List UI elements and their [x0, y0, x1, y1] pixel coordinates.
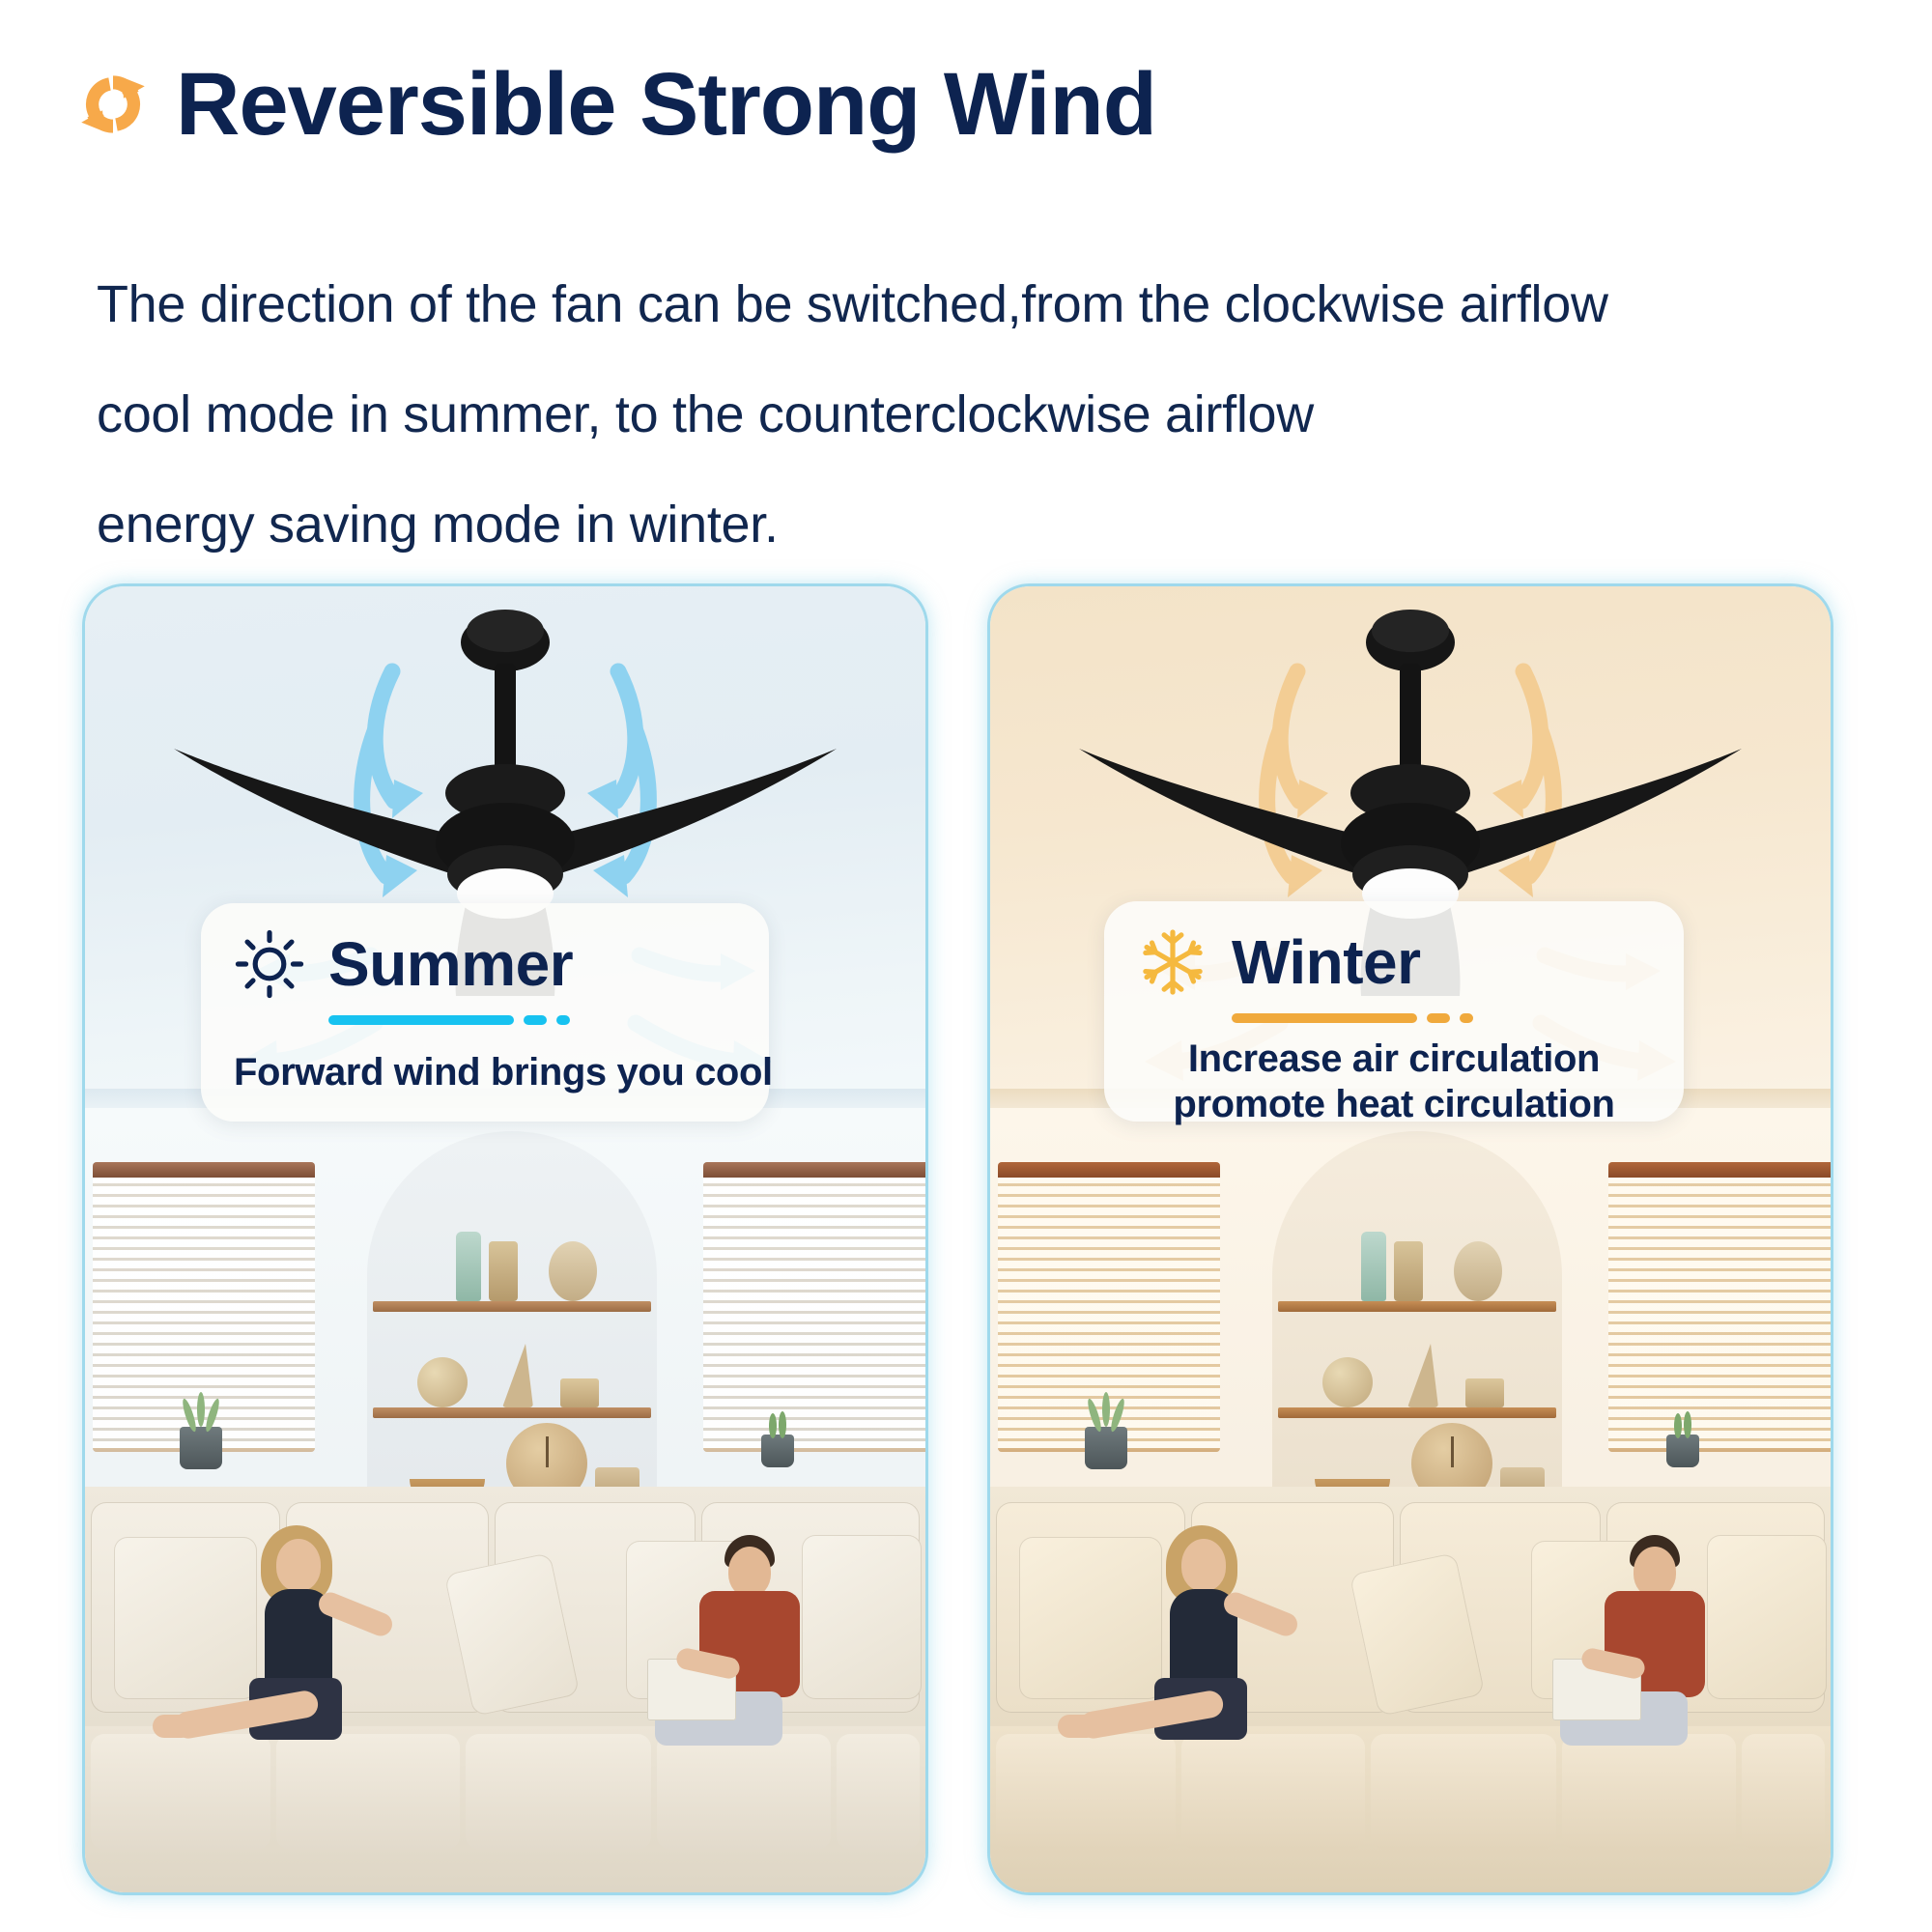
seat-cushion [1562, 1734, 1736, 1850]
seat-cushion [1371, 1734, 1556, 1850]
decor-sailboat [1407, 1344, 1438, 1407]
snowflake-icon [1137, 926, 1208, 998]
decor-bottle [456, 1232, 481, 1301]
winter-label-card: Winter Increase air circulation promote … [1104, 901, 1684, 1122]
season-title: Winter [1232, 931, 1421, 993]
rule-segment [556, 1015, 570, 1025]
season-title: Summer [328, 933, 573, 995]
summer-label-head: Summer [234, 928, 736, 1000]
rule-segment [328, 1015, 514, 1025]
description-line-1: The direction of the fan can be switched… [97, 249, 1884, 359]
decor-bottle [1361, 1232, 1386, 1301]
sofa-seat [85, 1726, 925, 1892]
blind-valance [1608, 1162, 1831, 1178]
ottoman [837, 1734, 920, 1850]
accent-rule [328, 1015, 736, 1025]
potted-plant [1085, 1427, 1127, 1469]
winter-panel[interactable]: Winter Increase air circulation promote … [987, 583, 1833, 1895]
window-sill [703, 1448, 925, 1452]
throw-pillow [802, 1535, 922, 1699]
rule-segment [1427, 1013, 1450, 1023]
shelf [1278, 1301, 1556, 1312]
seat-cushion [466, 1734, 651, 1850]
winter-label-head: Winter [1137, 926, 1651, 998]
potted-plant [180, 1427, 222, 1469]
blind-valance [703, 1162, 925, 1178]
sun-icon [234, 928, 305, 1000]
decor-cup [1465, 1378, 1504, 1407]
description-line-2: cool mode in summer, to the counterclock… [97, 359, 1884, 469]
throw-pillow [1707, 1535, 1827, 1699]
seat-cushion [996, 1734, 1176, 1850]
window-right [1608, 1162, 1831, 1452]
summer-label-card: Summer Forward wind brings you cool [201, 903, 769, 1122]
title-row: Reversible Strong Wind [75, 60, 1156, 149]
potted-succulent [761, 1435, 794, 1467]
decor-lantern [489, 1241, 518, 1301]
summer-panel[interactable]: Summer Forward wind brings you cool [82, 583, 928, 1895]
decor-ball [417, 1357, 468, 1407]
sofa-seat [990, 1726, 1831, 1892]
ottoman [1742, 1734, 1825, 1850]
potted-succulent [1666, 1435, 1699, 1467]
shelf [373, 1301, 651, 1312]
decor-ball [1322, 1357, 1373, 1407]
decor-cup [560, 1378, 599, 1407]
throw-pillow [1019, 1537, 1162, 1699]
window-sill [1608, 1448, 1831, 1452]
blind-valance [998, 1162, 1220, 1178]
winter-description-line-1: Increase air circulation [1137, 1037, 1651, 1082]
decor-lantern [1394, 1241, 1423, 1301]
header-description: The direction of the fan can be switched… [97, 249, 1884, 580]
summer-description-line-1: Forward wind brings you cool [234, 1050, 736, 1095]
sofa [85, 1487, 925, 1892]
window-right [703, 1162, 925, 1452]
rule-segment [524, 1015, 547, 1025]
living-room-scene-summer [85, 1108, 925, 1892]
decor-oval [1454, 1241, 1502, 1301]
window-blinds [703, 1162, 925, 1452]
seat-cushion [657, 1734, 831, 1850]
sofa [990, 1487, 1831, 1892]
throw-pillow [114, 1537, 257, 1699]
winter-description: Increase air circulation promote heat ci… [1137, 1037, 1651, 1127]
window-blinds [1608, 1162, 1831, 1452]
shelf [1278, 1407, 1556, 1418]
description-line-3: energy saving mode in winter. [97, 469, 1884, 580]
shelf [373, 1407, 651, 1418]
living-room-scene-winter [990, 1108, 1831, 1892]
summer-description: Forward wind brings you cool [234, 1050, 736, 1095]
seat-cushion [276, 1734, 460, 1850]
decor-sailboat [502, 1344, 533, 1407]
page-title: Reversible Strong Wind [176, 60, 1156, 149]
rule-segment [1460, 1013, 1473, 1023]
seat-cushion [1181, 1734, 1365, 1850]
seat-cushion [91, 1734, 270, 1850]
shelf-alcove [367, 1131, 657, 1523]
header: Reversible Strong Wind The direction of … [0, 0, 1932, 541]
winter-description-line-2: promote heat circulation [1137, 1082, 1651, 1127]
decor-oval [549, 1241, 597, 1301]
accent-rule [1232, 1013, 1651, 1023]
comparison-panels: Summer Forward wind brings you cool [0, 583, 1932, 1897]
rule-segment [1232, 1013, 1417, 1023]
blind-valance [93, 1162, 315, 1178]
shelf-alcove [1272, 1131, 1562, 1523]
reverse-circular-arrows-icon [75, 67, 151, 142]
